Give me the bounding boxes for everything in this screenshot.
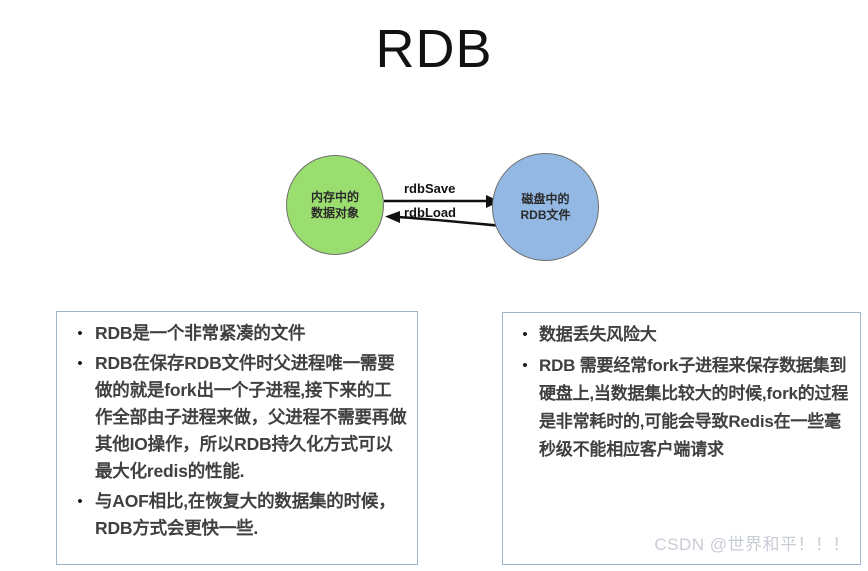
bullet-icon: • xyxy=(65,488,95,515)
page-title: RDB xyxy=(0,18,868,80)
list-item: • 数据丢失风险大 xyxy=(511,321,850,349)
advantages-textbox: • RDB是一个非常紧凑的文件 • RDB在保存RDB文件时父进程唯一需要做的就… xyxy=(56,311,418,565)
advantages-item-1: RDB是一个非常紧凑的文件 xyxy=(95,320,407,347)
advantages-bullet-list: • RDB是一个非常紧凑的文件 • RDB在保存RDB文件时父进程唯一需要做的就… xyxy=(57,312,417,542)
bullet-icon: • xyxy=(511,352,539,380)
rdb-flow-diagram: 内存中的 数据对象 磁盘中的 RDB文件 rdbSave rdbLoad xyxy=(280,145,610,270)
node-disk-line-1: 磁盘中的 xyxy=(521,191,569,207)
diagram-node-memory: 内存中的 数据对象 xyxy=(286,155,384,255)
bullet-icon: • xyxy=(65,350,95,377)
node-disk-line-2: RDB文件 xyxy=(521,207,571,223)
list-item: • 与AOF相比,在恢复大的数据集的时候，RDB方式会更快一些. xyxy=(65,488,407,542)
disadvantages-item-2: RDB 需要经常fork子进程来保存数据集到硬盘上,当数据集比较大的时候,for… xyxy=(539,352,850,464)
watermark: CSDN @世界和平！！！ xyxy=(654,534,850,556)
node-memory-line-2: 数据对象 xyxy=(311,205,359,221)
disadvantages-item-1: 数据丢失风险大 xyxy=(539,321,850,349)
bullet-icon: • xyxy=(65,320,95,347)
bullet-icon: • xyxy=(511,321,539,349)
list-item: • RDB是一个非常紧凑的文件 xyxy=(65,320,407,347)
disadvantages-textbox: • 数据丢失风险大 • RDB 需要经常fork子进程来保存数据集到硬盘上,当数… xyxy=(502,312,861,565)
list-item: • RDB 需要经常fork子进程来保存数据集到硬盘上,当数据集比较大的时候,f… xyxy=(511,352,850,464)
advantages-item-3: 与AOF相比,在恢复大的数据集的时候，RDB方式会更快一些. xyxy=(95,488,407,542)
edge-label-rdbsave: rdbSave xyxy=(404,181,455,196)
node-memory-line-1: 内存中的 xyxy=(311,189,359,205)
disadvantages-bullet-list: • 数据丢失风险大 • RDB 需要经常fork子进程来保存数据集到硬盘上,当数… xyxy=(503,313,860,464)
edge-label-rdbload: rdbLoad xyxy=(404,205,456,220)
diagram-node-disk: 磁盘中的 RDB文件 xyxy=(492,153,599,261)
list-item: • RDB在保存RDB文件时父进程唯一需要做的就是fork出一个子进程,接下来的… xyxy=(65,350,407,485)
advantages-item-2: RDB在保存RDB文件时父进程唯一需要做的就是fork出一个子进程,接下来的工作… xyxy=(95,350,407,485)
